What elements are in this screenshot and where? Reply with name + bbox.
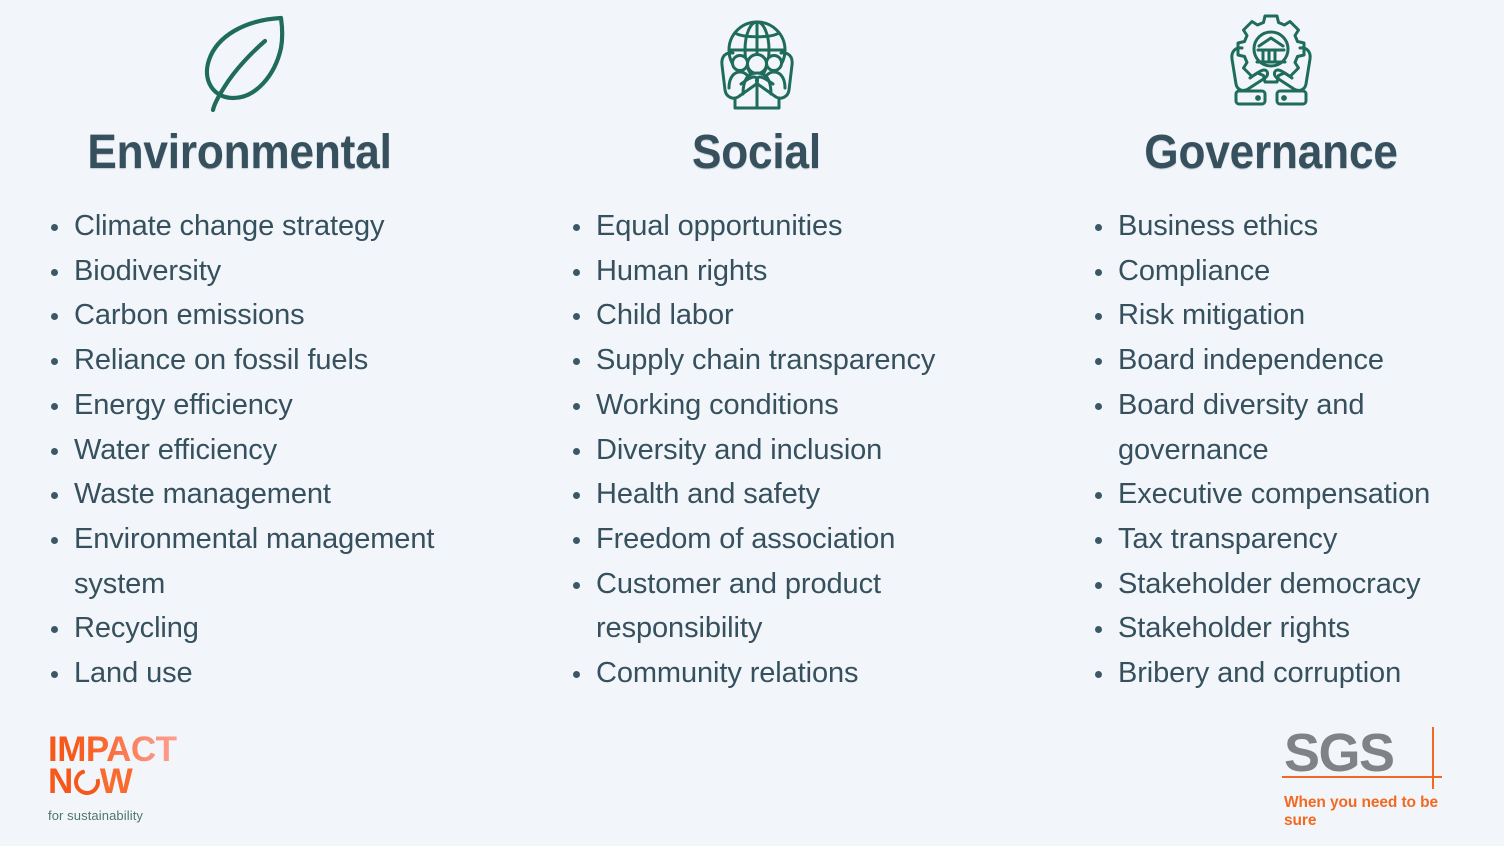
impact-wordmark-line1: IMPACT [48,734,177,765]
column-social: Social Equal opportunities Human rights … [512,0,1024,700]
list-item: Freedom of association [564,517,996,562]
list-item: Diversity and inclusion [564,428,996,473]
column-title-environmental: Environmental [58,126,421,180]
list-item: Stakeholder rights [1086,606,1498,651]
column-environmental: Environmental Climate change strategy Bi… [0,0,512,700]
impact-now-letter-n: N [48,766,73,797]
hands-holding-gear-building-icon [1086,0,1456,114]
list-item: Water efficiency [42,428,454,473]
impact-now-tagline: for sustainability [48,808,308,823]
impact-now-logo: IMPACT N W for sustainability [48,734,308,823]
list-item: Climate change strategy [42,204,454,249]
list-item: Stakeholder democracy [1086,562,1498,607]
sgs-vertical-rule-icon [1432,727,1434,789]
list-item: Biodiversity [42,249,454,294]
sgs-mark: SGS [1284,726,1456,788]
list-item: Tax transparency [1086,517,1498,562]
sgs-wordmark: SGS [1284,726,1394,780]
list-item: Carbon emissions [42,293,454,338]
list-item: Energy efficiency [42,383,454,428]
list-item: Health and safety [564,472,996,517]
hands-holding-globe-people-icon [564,0,949,114]
list-item: Bribery and corruption [1086,651,1498,696]
list-item: Waste management [42,472,454,517]
esg-topics-slide: Environmental Climate change strategy Bi… [0,0,1504,846]
list-item: Supply chain transparency [564,338,996,383]
list-item: Human rights [564,249,996,294]
sgs-logo: SGS When you need to be sure [1284,726,1464,816]
sgs-tagline: When you need to be sure [1284,794,1464,830]
list-item: Customer and product responsibility [564,562,996,651]
impact-wordmark-line2: N W [48,766,308,797]
topic-list-governance: Business ethics Compliance Risk mitigati… [1086,204,1504,696]
list-item: Land use [42,651,454,696]
list-item: Child labor [564,293,996,338]
list-item: Board independence [1086,338,1498,383]
list-item: Recycling [42,606,454,651]
list-item: Equal opportunities [564,204,996,249]
list-item: Executive compensation [1086,472,1498,517]
list-item: Reliance on fossil fuels [42,338,454,383]
list-item: Community relations [564,651,996,696]
column-governance: Governance Business ethics Compliance Ri… [1024,0,1504,700]
column-title-governance: Governance [1101,126,1441,180]
list-item: Business ethics [1086,204,1498,249]
list-item: Compliance [1086,249,1498,294]
esg-columns: Environmental Climate change strategy Bi… [0,0,1504,700]
impact-now-o-glyph-icon [74,769,99,795]
leaf-icon [42,0,437,114]
list-item: Risk mitigation [1086,293,1498,338]
impact-now-letter-w: W [100,766,133,797]
list-item: Environmental management system [42,517,454,606]
sgs-horizontal-rule-icon [1282,776,1442,778]
topic-list-social: Equal opportunities Human rights Child l… [564,204,1024,696]
list-item: Board diversity and governance [1086,383,1498,472]
list-item: Working conditions [564,383,996,428]
column-title-social: Social [579,126,933,180]
topic-list-environmental: Climate change strategy Biodiversity Car… [42,204,512,696]
